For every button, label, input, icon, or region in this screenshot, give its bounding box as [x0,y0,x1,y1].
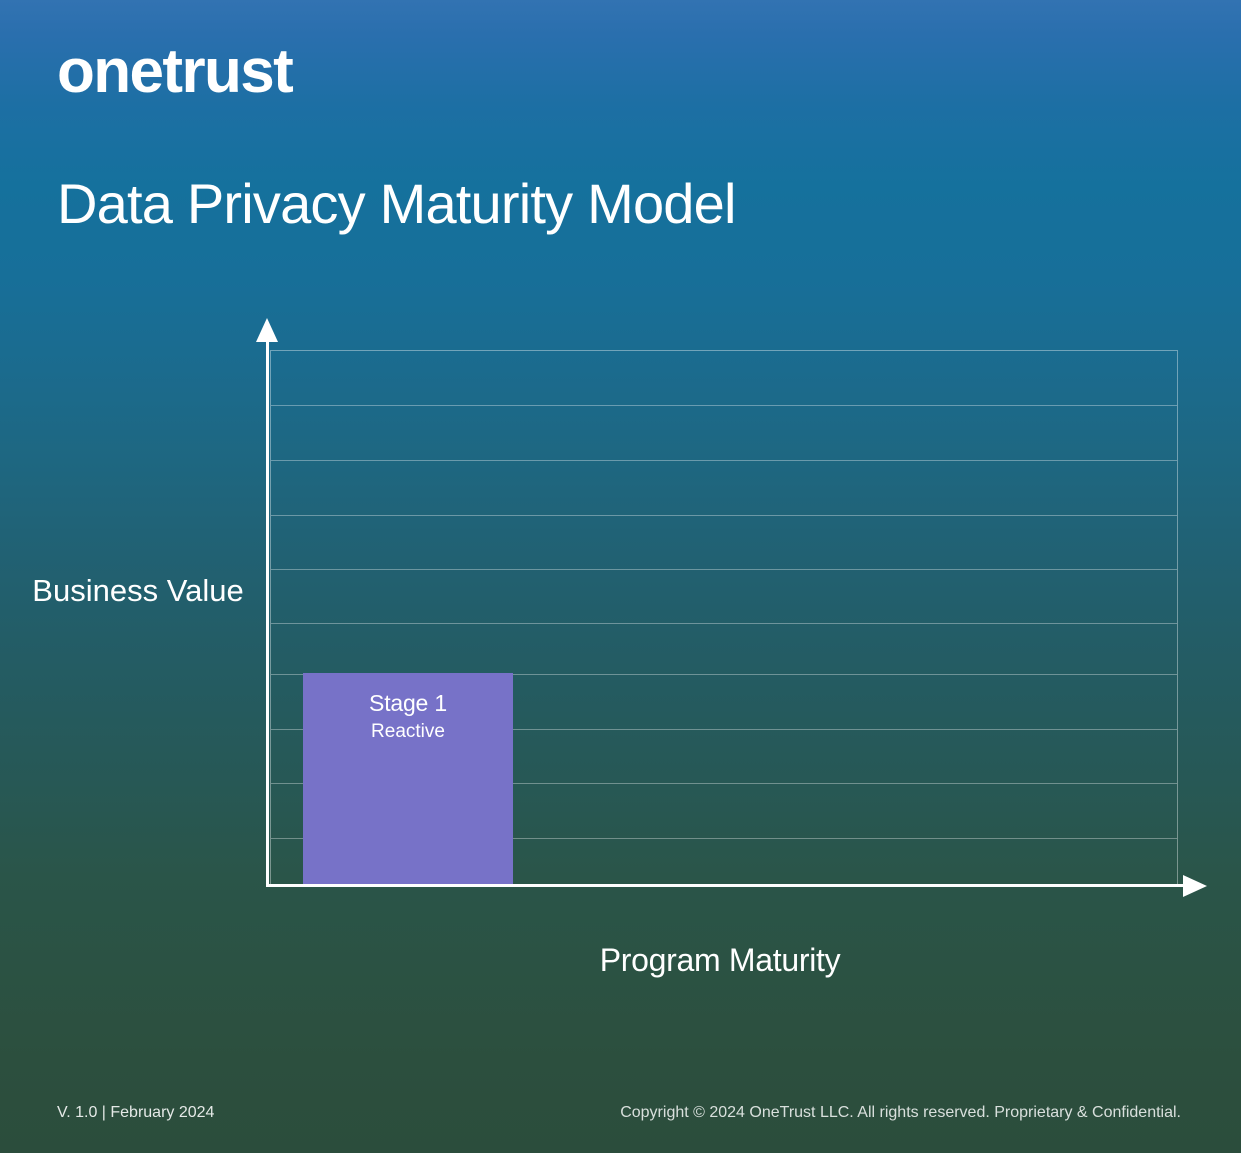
x-axis-arrow-icon [1183,875,1207,897]
footer-copyright: Copyright © 2024 OneTrust LLC. All right… [620,1102,1181,1124]
y-axis-arrow-icon [256,318,278,342]
gridline [271,460,1177,461]
gridline [271,515,1177,516]
slide-canvas: onetrust Data Privacy Maturity Model Sta… [0,0,1241,1153]
y-axis-line [266,336,269,887]
footer-version: V. 1.0 | February 2024 [57,1102,214,1124]
bar-stage-1-description: Reactive [371,719,445,745]
bar-stage-1[interactable]: Stage 1 Reactive [303,673,513,885]
gridline [271,405,1177,406]
gridline [271,623,1177,624]
bar-stage-1-label: Stage 1 [369,687,447,719]
maturity-model-chart: Stage 1 Reactive Business Value Program … [0,0,1241,1153]
y-axis-label: Business Value [28,570,248,611]
x-axis-label: Program Maturity [320,938,1120,982]
gridline [271,569,1177,570]
x-axis-line [267,884,1189,887]
